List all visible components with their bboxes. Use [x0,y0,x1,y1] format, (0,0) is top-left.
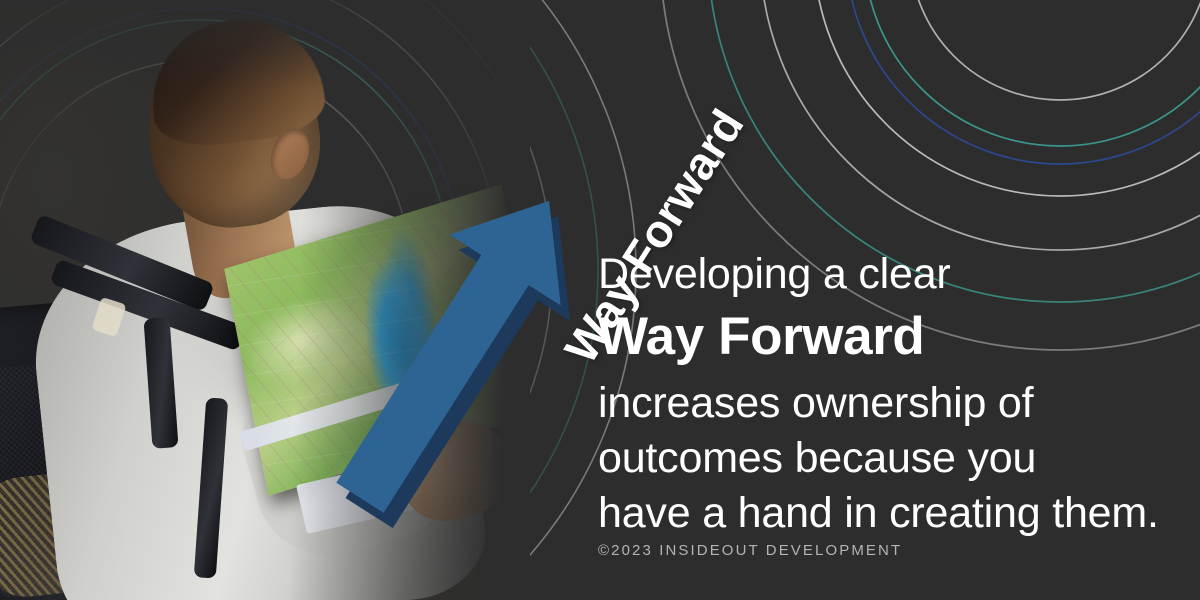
headline-line-2: Way Forward [598,304,1178,370]
way-forward-arrow: Way Forward [250,40,650,540]
headline-line-3: increases ownership of [598,376,1178,431]
headline-line-5: have a hand in creating them. [598,486,1178,541]
headline-copy: Developing a clear Way Forward increases… [598,247,1178,541]
promo-banner: Way Forward Developing a clear Way Forwa… [0,0,1200,600]
arrow-body-shape [304,165,604,533]
headline-line-4: outcomes because you [598,431,1178,486]
copyright-notice: ©2023 INSIDEOUT DEVELOPMENT [598,542,902,559]
headline-line-1: Developing a clear [598,247,1178,302]
